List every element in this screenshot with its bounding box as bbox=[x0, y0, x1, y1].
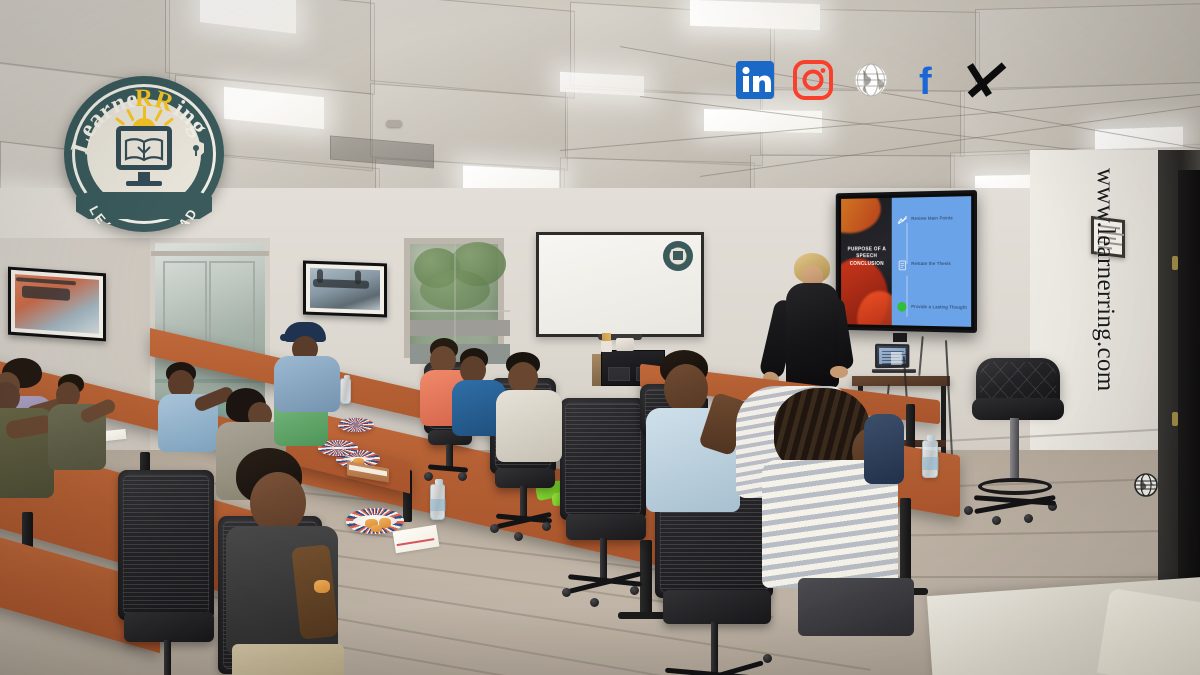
slide-bullet-1: Review Main Points bbox=[897, 212, 967, 224]
green-dot-icon bbox=[897, 301, 907, 312]
instagram-icon[interactable] bbox=[791, 58, 835, 102]
globe-icon bbox=[1133, 472, 1159, 498]
logo-tagline: LEARN TO LEAD bbox=[86, 203, 201, 224]
framed-osprey-photo bbox=[303, 261, 387, 318]
slide-bullet-2: Restate the Thesis bbox=[897, 258, 967, 269]
slide-bullet-3: Provide a Lasting Thought bbox=[897, 301, 967, 313]
window-center bbox=[404, 238, 504, 358]
smoke-detector-icon bbox=[386, 120, 402, 127]
network-node-icon bbox=[84, 142, 100, 162]
classroom-photo: PURPOSE OF A SPEECH CONCLUSION Review Ma… bbox=[0, 0, 1200, 675]
ceiling-light bbox=[690, 0, 820, 30]
svg-text:f: f bbox=[919, 61, 932, 102]
svg-text:RR: RR bbox=[135, 85, 178, 118]
door-panel[interactable] bbox=[1178, 170, 1200, 600]
slide-title-panel: PURPOSE OF A SPEECH CONCLUSION bbox=[841, 198, 892, 325]
social-icon-bar: f bbox=[733, 58, 1009, 102]
white-cloth-fold bbox=[1097, 588, 1200, 675]
stool-cushion bbox=[972, 398, 1064, 420]
tissue-box bbox=[616, 338, 634, 351]
tv-screen: PURPOSE OF A SPEECH CONCLUSION Review Ma… bbox=[841, 196, 971, 327]
tv-wall-mount bbox=[893, 333, 907, 342]
whiteboard-logo-core bbox=[671, 249, 685, 262]
framed-helicopter-photo bbox=[8, 267, 106, 342]
chart-line-icon bbox=[897, 213, 907, 224]
water-bottle[interactable] bbox=[430, 484, 445, 520]
website-watermark: www.learnerring.com bbox=[1091, 168, 1119, 468]
water-bottle[interactable] bbox=[340, 378, 351, 404]
table-leg bbox=[640, 540, 652, 618]
water-bottle[interactable] bbox=[922, 440, 938, 478]
snack-plate bbox=[338, 418, 374, 432]
presentation-tv[interactable]: PURPOSE OF A SPEECH CONCLUSION Review Ma… bbox=[836, 190, 977, 333]
linkedin-icon[interactable] bbox=[733, 58, 777, 102]
learnerring-logo: Learne RR ing bbox=[64, 76, 224, 232]
door-hinge bbox=[1172, 256, 1178, 270]
stool-base bbox=[968, 492, 1063, 522]
stool-post bbox=[1010, 418, 1019, 480]
globe-icon[interactable] bbox=[849, 58, 893, 102]
open-book-icon bbox=[124, 138, 164, 162]
laptop-display bbox=[879, 348, 906, 364]
laptop-keyboard-base[interactable] bbox=[872, 369, 917, 373]
x-twitter-icon[interactable] bbox=[965, 58, 1009, 102]
slide-bullet-text: Review Main Points bbox=[911, 215, 953, 221]
slide-title: PURPOSE OF A SPEECH CONCLUSION bbox=[846, 246, 887, 268]
door-hinge bbox=[1172, 412, 1178, 426]
presenter-right-hand bbox=[830, 366, 848, 378]
slide-bullet-text: Provide a Lasting Thought bbox=[911, 304, 967, 310]
slide-bullet-text: Restate the Thesis bbox=[911, 261, 951, 266]
laptop-console-table bbox=[852, 376, 950, 386]
document-icon bbox=[897, 258, 907, 269]
pencil-cup bbox=[601, 341, 612, 352]
logo-tagline-banner: LEARN TO LEAD bbox=[76, 184, 212, 224]
svg-text:LEARN TO LEAD: LEARN TO LEAD bbox=[86, 203, 201, 224]
svg-text:ing: ing bbox=[169, 95, 213, 140]
whiteboard[interactable] bbox=[536, 232, 704, 337]
slide-bullet-panel: Review Main Points Restate the Thesis Pr… bbox=[892, 196, 971, 327]
facebook-icon[interactable]: f bbox=[907, 58, 951, 102]
